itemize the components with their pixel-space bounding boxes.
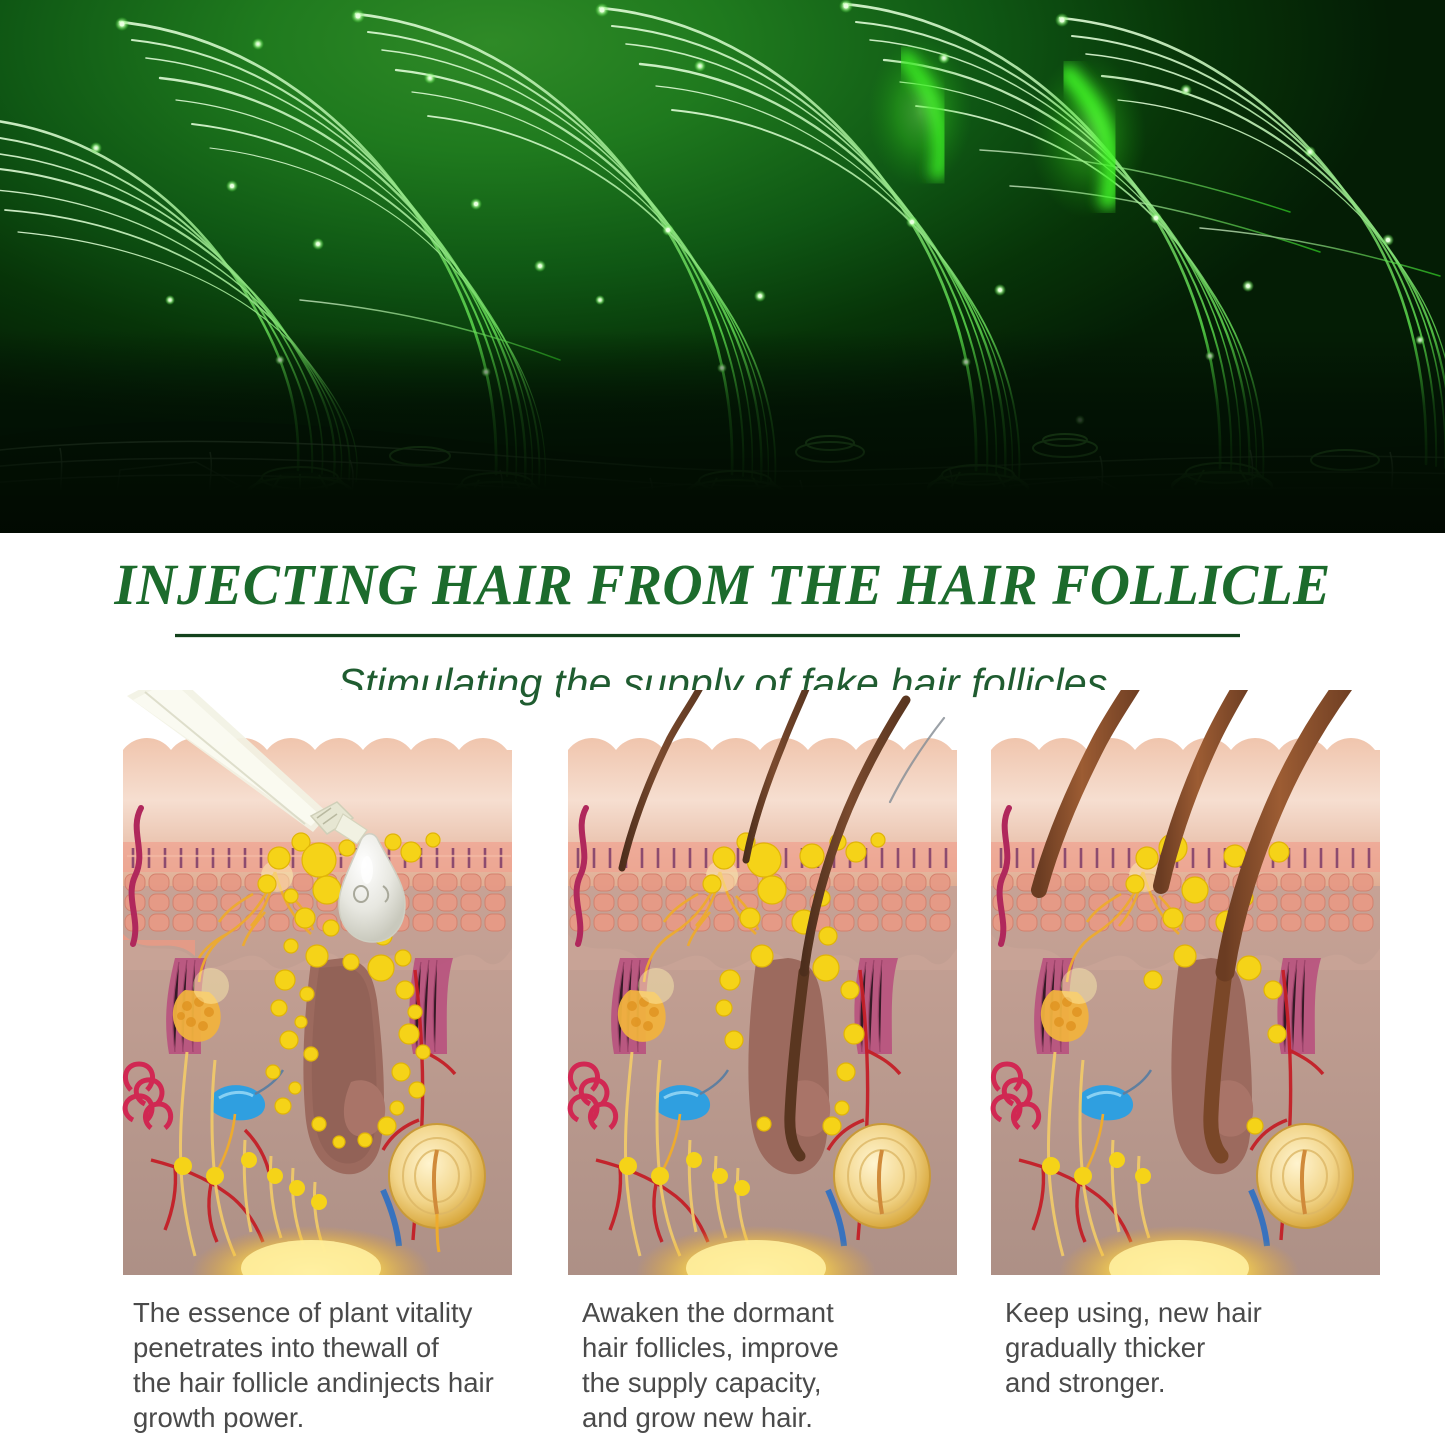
skin-cross-section-thick-strong-hair-icon [983,690,1388,1275]
steps-row: The essence of plant vitality penetrates… [0,690,1445,1445]
skin-diagram-2 [560,690,965,1275]
hero-base-shadow [0,330,1445,533]
hair-follicle-robust [1171,958,1253,1174]
step-caption-1: The essence of plant vitality penetrates… [133,1295,533,1435]
skin-diagram-1 [115,690,520,1275]
neon-glow-arcs [868,36,1146,218]
step-panel-1: The essence of plant vitality penetrates… [115,690,520,1445]
step-panel-3: Keep using, new hair gradually thicker a… [983,690,1388,1445]
step-caption-2: Awaken the dormant hair follicles, impro… [582,1295,982,1435]
step-panel-2: Awaken the dormant hair follicles, impro… [560,690,965,1445]
pacinian-corpuscle [1257,1124,1353,1228]
step-caption-3: Keep using, new hair gradually thicker a… [1005,1295,1405,1400]
skin-cross-section-new-thin-hair-icon [560,690,965,1275]
pacinian-corpuscle [834,1124,930,1228]
hero-banner [0,0,1445,533]
skin-cross-section-serum-dropper-icon [115,690,520,1275]
title-divider [175,633,1240,638]
page-title: INJECTING HAIR FROM THE HAIR FOLLICLE [29,551,1416,618]
hair-follicle-active [748,958,830,1174]
skin-diagram-3 [983,690,1388,1275]
